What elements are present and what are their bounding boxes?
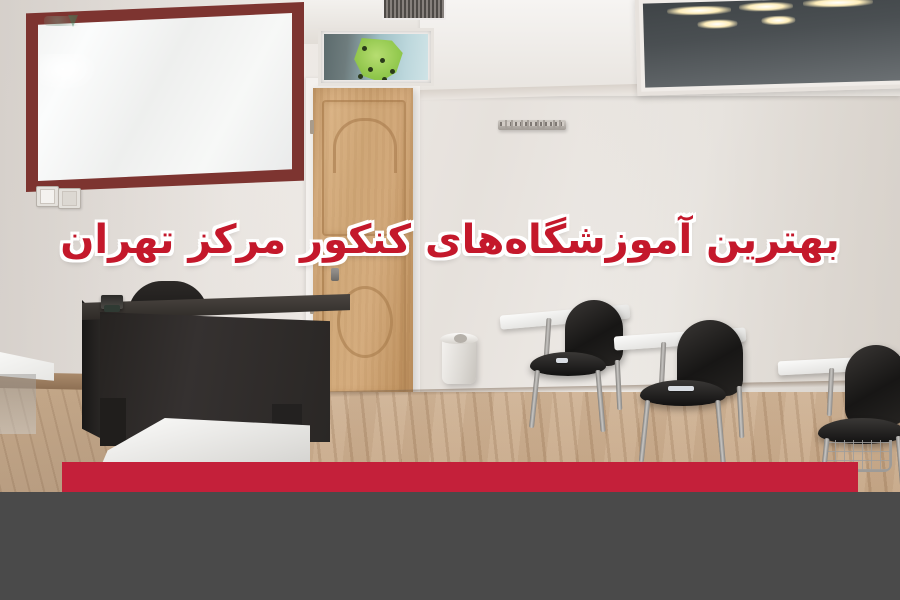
transom-window [318,28,434,86]
ceiling-light-reflection [803,0,873,8]
trash-bin-notch [454,334,467,343]
decal-dot [362,46,367,51]
ceiling-light-reflection [697,19,737,29]
decal-dot [358,74,363,79]
footer: Kids e [0,492,900,600]
chair-backrest [845,345,900,425]
dark-window-glass [643,0,900,88]
light-switch-1 [36,186,59,207]
red-accent-bar [62,462,858,492]
chair-seat-item [668,386,694,391]
ceiling-light-reflection [739,1,793,12]
dark-window [635,0,900,96]
coat-hook [553,120,561,130]
transom-glass [324,34,428,80]
decal-dot [382,77,387,80]
whiteboard-surface [38,13,292,181]
coat-hook [505,120,513,130]
light-switch-2 [58,188,81,209]
chair-seat-item [556,358,568,363]
whiteboard-marking [44,16,88,26]
door-arch-detail [333,118,397,173]
door-knob-icon [331,268,339,281]
decal-dot [390,69,395,74]
side-desk-left-shadow [0,374,36,434]
whiteboard-glare [40,54,98,92]
coat-hook [537,120,545,130]
banner-image: بهترین آموزشگاه‌های کنکور مرکز تهران Kid… [0,0,900,600]
decal-dot [380,58,385,63]
coat-hook [521,120,529,130]
ceiling-light-reflection [761,15,795,25]
ceiling-light-reflection [667,5,731,16]
desk-object-2 [104,305,120,312]
ac-vent-grille-icon [382,0,446,20]
classroom-photo: بهترین آموزشگاه‌های کنکور مرکز تهران [0,0,900,492]
desk-leg-left [100,398,126,446]
decal-dot [368,67,373,72]
chair-seat [640,380,726,406]
door-hinge-top [310,120,314,134]
